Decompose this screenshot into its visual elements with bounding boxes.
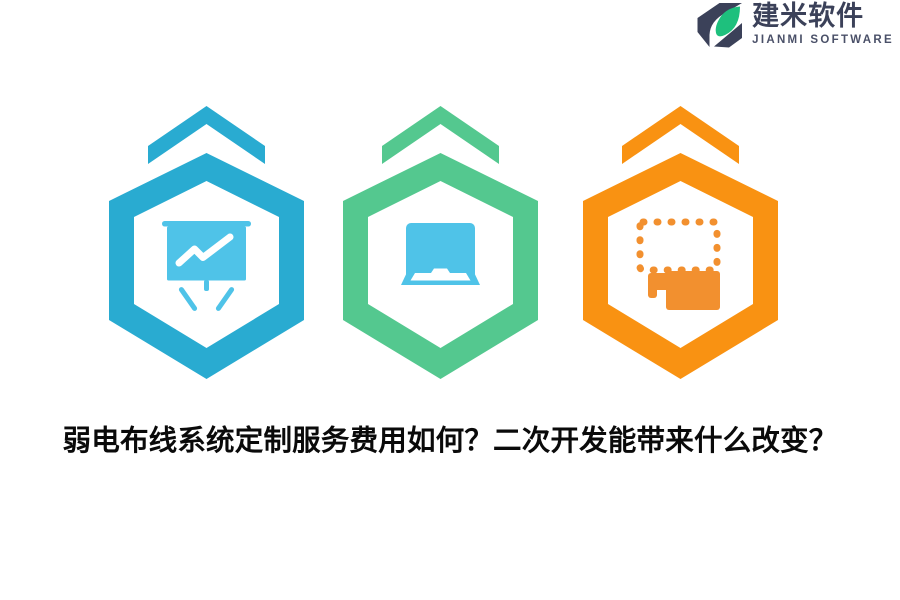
presentation-chart-hex-badge	[104, 105, 309, 385]
brand-text-block: 建米软件 JIANMI SOFTWARE	[752, 3, 894, 47]
drag-drop-module-hex-badge	[578, 105, 783, 385]
jianmi-leaf-hexagon-logo-icon	[696, 2, 744, 48]
feature-icon-row	[0, 105, 900, 385]
page-title: 弱电布线系统定制服务费用如何？二次开发能带来什么改变？	[0, 418, 900, 459]
hexagon-outline-shape	[583, 153, 778, 379]
dashed-box-shape	[640, 222, 717, 270]
laptop-icon	[401, 223, 480, 285]
brand-logo: 建米软件 JIANMI SOFTWARE	[696, 2, 894, 48]
brand-name: 建米软件	[752, 3, 894, 30]
brand-subtitle: JIANMI SOFTWARE	[752, 35, 894, 47]
presentation-chart-icon	[162, 221, 251, 312]
module-block-shape	[648, 271, 720, 310]
laptop-hex-badge	[338, 105, 543, 385]
